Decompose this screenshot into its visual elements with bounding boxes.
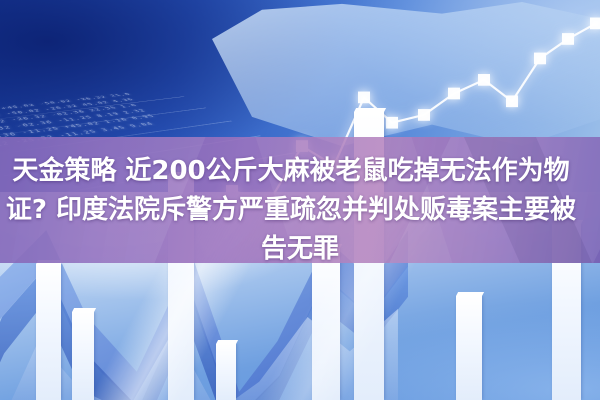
headline-line-1: 天金策略 近200公斤大麻被老鼠吃掉无法作为物 xyxy=(0,152,600,191)
continent-silhouette xyxy=(212,2,600,146)
bar-column xyxy=(36,264,61,400)
headline-line-3: 告无罪 xyxy=(0,230,600,269)
banner-image: -02.36 -11.25 +45.02 -50.02 -26.32 21.0 … xyxy=(0,0,600,400)
headline-line-2: 证? 印度法院斥警方严重疏忽并判处贩毒案主要被 xyxy=(0,191,600,230)
bar-column xyxy=(216,344,236,400)
bar-column xyxy=(312,248,340,400)
headline-text: 天金策略 近200公斤大麻被老鼠吃掉无法作为物 证? 印度法院斥警方严重疏忽并判… xyxy=(0,152,600,269)
bar-column xyxy=(456,296,482,400)
bar-column xyxy=(72,312,94,400)
